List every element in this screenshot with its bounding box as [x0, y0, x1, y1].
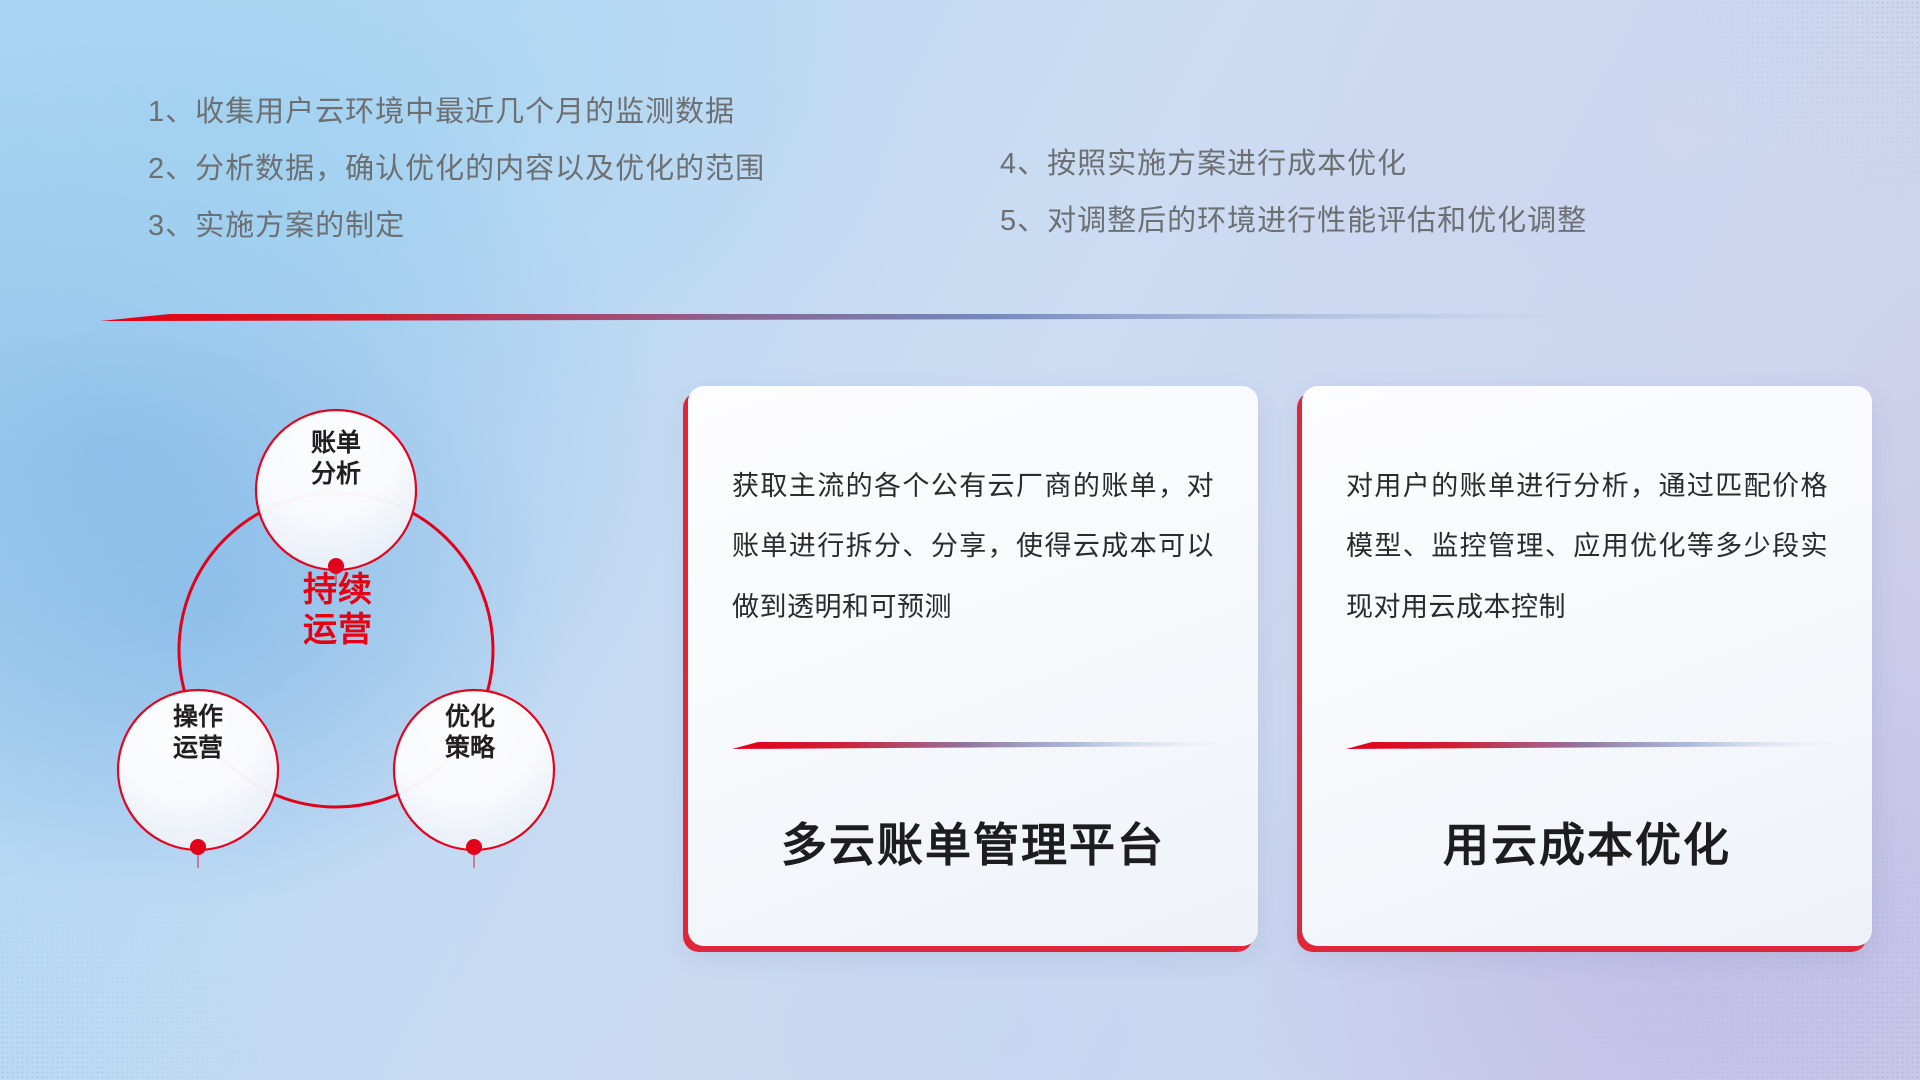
venn-dot-right [466, 839, 482, 855]
venn-center-line2: 运营 [268, 610, 408, 650]
venn-label-right-line2: 策略 [390, 733, 550, 764]
venn-label-left: 操作 运营 [118, 702, 278, 763]
info-card-cloud-cost-optimization[interactable]: 对用户的账单进行分析，通过匹配价格模型、监控管理、应用优化等多少段实现对用云成本… [1302, 386, 1872, 946]
step-item-1: 1、收集用户云环境中最近几个月的监测数据 [148, 98, 765, 127]
step-item-5: 5、对调整后的环境进行性能评估和优化调整 [1000, 207, 1587, 236]
card-accent-rule [732, 740, 1224, 751]
venn-center-line1: 持续 [268, 570, 408, 610]
slide-canvas: 1、收集用户云环境中最近几个月的监测数据 2、分析数据，确认优化的内容以及优化的… [0, 0, 1920, 1080]
venn-center-label: 持续 运营 [268, 570, 408, 650]
venn-label-right: 优化 策略 [390, 702, 550, 763]
venn-label-right-line1: 优化 [390, 702, 550, 733]
card-title: 用云成本优化 [1346, 809, 1828, 875]
venn-label-top: 账单 分析 [256, 428, 416, 489]
venn-label-top-line2: 分析 [256, 459, 416, 490]
venn-diagram: 账单 分析 操作 运营 优化 策略 持续 运营 [100, 350, 660, 950]
venn-dot-left [190, 839, 206, 855]
venn-label-left-line1: 操作 [118, 702, 278, 733]
steps-list-right: 4、按照实施方案进行成本优化 5、对调整后的环境进行性能评估和优化调整 [1000, 150, 1587, 264]
step-item-3: 3、实施方案的制定 [148, 212, 765, 241]
step-item-4: 4、按照实施方案进行成本优化 [1000, 150, 1587, 179]
step-item-2: 2、分析数据，确认优化的内容以及优化的范围 [148, 155, 765, 184]
dot-texture-top-right [1620, 0, 1920, 230]
card-body-text: 获取主流的各个公有云厂商的账单，对账单进行拆分、分享，使得云成本可以做到透明和可… [732, 456, 1214, 706]
venn-label-left-line2: 运营 [118, 733, 278, 764]
info-card-multicloud-billing[interactable]: 获取主流的各个公有云厂商的账单，对账单进行拆分、分享，使得云成本可以做到透明和可… [688, 386, 1258, 946]
card-body-text: 对用户的账单进行分析，通过匹配价格模型、监控管理、应用优化等多少段实现对用云成本… [1346, 456, 1828, 706]
section-divider [100, 310, 1630, 324]
venn-label-top-line1: 账单 [256, 428, 416, 459]
steps-list-left: 1、收集用户云环境中最近几个月的监测数据 2、分析数据，确认优化的内容以及优化的… [148, 98, 765, 269]
card-accent-rule [1346, 740, 1838, 751]
card-title: 多云账单管理平台 [732, 809, 1214, 875]
